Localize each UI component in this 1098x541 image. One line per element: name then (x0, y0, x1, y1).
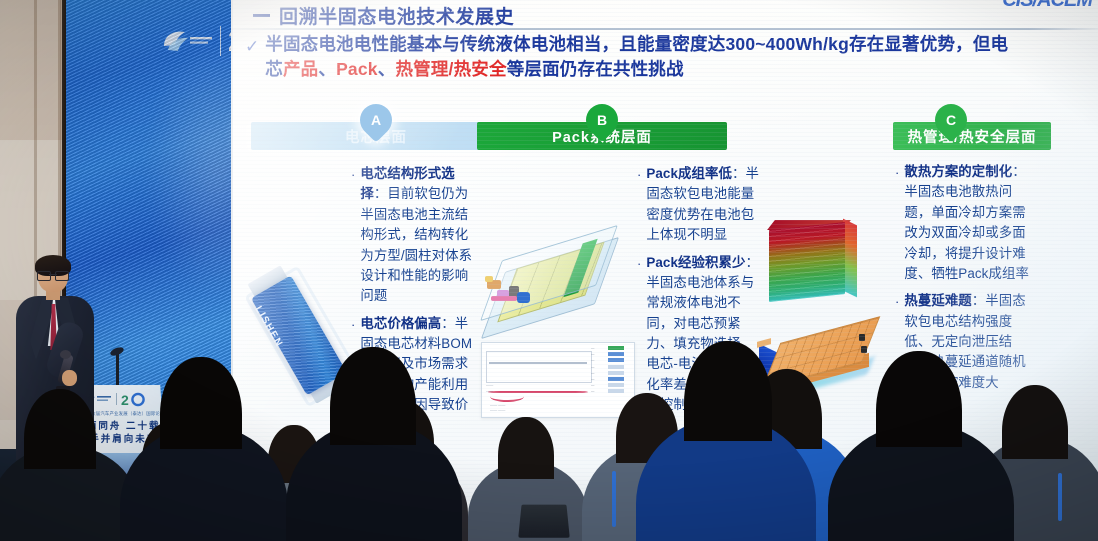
svg-text:2: 2 (121, 392, 129, 407)
microphone-capsule-icon (60, 350, 71, 359)
badge-a-label: A (371, 112, 381, 128)
screenshot-root: 2 CIS/ACEM 回溯半固态电池技术发展史 ✓ 半固态电池电性能基本与传统液… (0, 0, 1098, 541)
logo-divider (116, 393, 117, 405)
forum-logo-icon (158, 26, 214, 56)
logo-divider (220, 26, 221, 56)
speaker-clicker-device (56, 386, 70, 404)
backdrop-glare (146, 40, 236, 300)
badge-wrap-b: B (477, 104, 727, 136)
badge-c-label: C (946, 112, 956, 128)
eyeglasses-icon (37, 271, 69, 279)
badge-c: C (928, 97, 973, 142)
badge-b-label: B (597, 112, 607, 128)
projection-screen: CIS/ACEM 回溯半固态电池技术发展史 ✓ 半固态电池电性能基本与传统液体电… (231, 0, 1098, 541)
speaker-person (16, 258, 94, 463)
anniversary-20-icon: 2 (121, 392, 147, 407)
badge-b: B (579, 97, 624, 142)
speaker-hand (62, 370, 77, 386)
screen-glare (231, 0, 1098, 541)
badge-wrap-a: A (251, 104, 501, 136)
badge-a: A (353, 97, 398, 142)
badge-wrap-c: C (851, 104, 1051, 136)
backdrop-logo: 2 (158, 24, 236, 60)
